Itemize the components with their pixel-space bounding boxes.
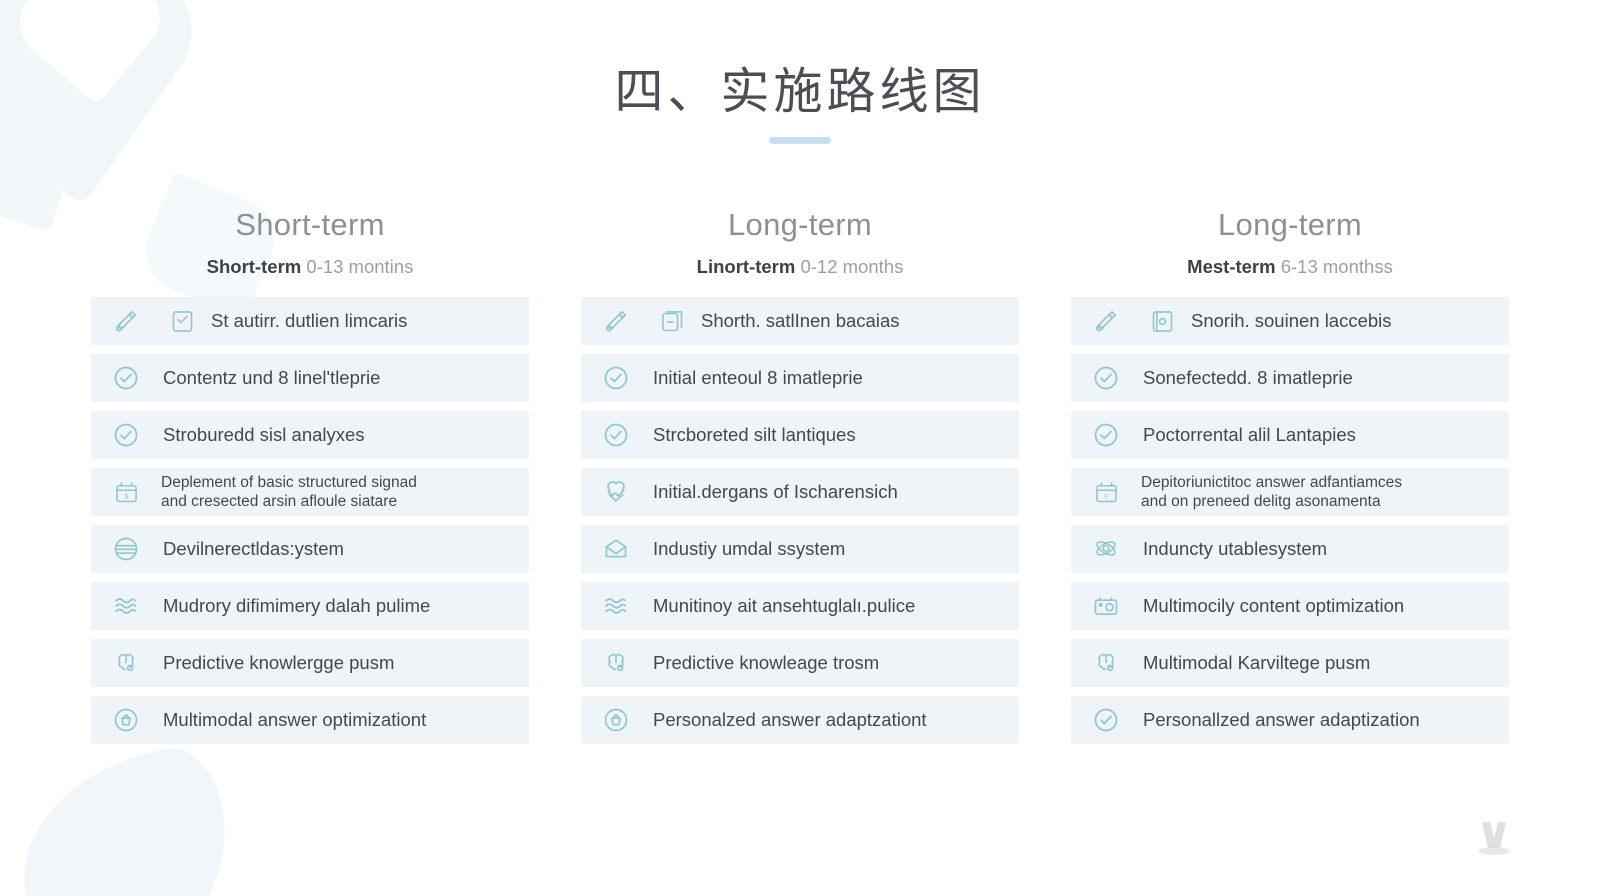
list-item-label: Multimodal answer optimizationt — [163, 709, 426, 732]
list-item[interactable]: Devilnerectldas:ystem — [91, 525, 529, 573]
list-item-label: Depitoriunictitoc answer adfantiamcesand… — [1141, 473, 1402, 513]
list-item-label: Initial enteoul 8 imatleprie — [653, 367, 863, 390]
envelope-icon — [601, 534, 631, 564]
list-item[interactable]: Strcboreted silt lantiques — [581, 411, 1019, 459]
column-subtitle-duration: 0-12 months — [800, 256, 903, 277]
clipboard-check-icon — [167, 306, 197, 336]
background-shape-bottom-left — [3, 740, 248, 896]
calendar-money-icon: $ — [111, 477, 141, 507]
list-item-label-line1: Deplement of basic structured signad — [161, 474, 417, 491]
column-heading: Long-term — [581, 206, 1019, 243]
column-heading: Long-term — [1071, 206, 1509, 243]
list-item[interactable]: $Deplement of basic structured signadand… — [91, 468, 529, 516]
list-item-label-line2: and on preneed delitg asonamenta — [1141, 492, 1402, 512]
check-circle-icon — [601, 363, 631, 393]
list-item-label: Multimocily content optimization — [1143, 595, 1404, 618]
list-item[interactable]: Initial enteoul 8 imatleprie — [581, 354, 1019, 402]
column-item-list: Snorih. souinen laccebisSonefectedd. 8 i… — [1071, 297, 1509, 744]
brain-icon — [601, 648, 631, 678]
check-circle-icon — [1091, 420, 1121, 450]
list-item-label: Sonefectedd. 8 imatleprie — [1143, 367, 1353, 390]
brain-icon — [111, 648, 141, 678]
list-item[interactable]: Multimodal answer optimizationt — [91, 696, 529, 744]
calendar-f-icon: F — [1091, 477, 1121, 507]
roadmap-columns: Short-termShort-term 0-13 montinsSt auti… — [0, 206, 1600, 753]
list-item-label: Contentz und 8 linel'tleprie — [163, 367, 380, 390]
list-item[interactable]: Contentz und 8 linel'tleprie — [91, 354, 529, 402]
pencil-icon — [601, 306, 631, 336]
column-item-list: Shorth. satlInen bacaiasInitial enteoul … — [581, 297, 1019, 744]
list-item[interactable]: Personallzed answer adaptization — [1071, 696, 1509, 744]
list-item-label: Devilnerectldas:ystem — [163, 538, 344, 561]
check-circle-icon — [601, 420, 631, 450]
check-circle-icon — [1091, 705, 1121, 735]
pencil-icon — [111, 306, 141, 336]
atom-icon — [1091, 534, 1121, 564]
list-item-label: Mudrory difimimery dalah pulime — [163, 595, 430, 618]
camera-icon — [1091, 591, 1121, 621]
list-item[interactable]: St autirr. dutlien limcaris — [91, 297, 529, 345]
list-item-label-line1: Depitoriunictitoc answer adfantiamces — [1141, 474, 1402, 491]
page-title: 四、实施路线图 — [0, 62, 1600, 123]
waves-icon — [111, 591, 141, 621]
title-underline — [769, 137, 831, 144]
list-item-label: Munitinoy ait ansehtuglalı.pulice — [653, 595, 915, 618]
layers-stack-icon — [111, 534, 141, 564]
check-badge-icon — [111, 705, 141, 735]
list-item-label: Poctorrental alil Lantapies — [1143, 424, 1356, 447]
column-subtitle: Short-term 0-13 montins — [91, 256, 529, 278]
waves-icon — [601, 591, 631, 621]
list-item-label-line2: and cresected arsin afloule siatare — [161, 492, 417, 512]
list-item[interactable]: Snorih. souinen laccebis — [1071, 297, 1509, 345]
title-block: 四、实施路线图 — [0, 62, 1600, 144]
list-item[interactable]: Industiy umdal ssystem — [581, 525, 1019, 573]
column-subtitle-duration: 6-13 monthss — [1281, 256, 1393, 277]
roadmap-column-3: Long-termMest-term 6-13 monthssSnorih. s… — [1071, 206, 1509, 753]
column-item-list: St autirr. dutlien limcarisContentz und … — [91, 297, 529, 744]
heart-shield-icon — [601, 477, 631, 507]
column-subtitle: Mest-term 6-13 monthss — [1071, 256, 1509, 278]
clipboard-dot-icon — [1147, 306, 1177, 336]
svg-text:$: $ — [124, 494, 128, 501]
list-item[interactable]: Sonefectedd. 8 imatleprie — [1071, 354, 1509, 402]
column-subtitle: Linort-term 0-12 months — [581, 256, 1019, 278]
list-item-label: Shorth. satlInen bacaias — [701, 310, 900, 333]
roadmap-column-1: Short-termShort-term 0-13 montinsSt auti… — [91, 206, 529, 753]
list-item-label: Predictive knowlergge pusm — [163, 652, 394, 675]
list-item-label: Initial.dergans of Ischarensich — [653, 481, 898, 504]
list-item[interactable]: Mudrory difimimery dalah pulime — [91, 582, 529, 630]
list-item-label: Stroburedd sisl analyxes — [163, 424, 365, 447]
list-item[interactable]: Predictive knowleage trosm — [581, 639, 1019, 687]
column-subtitle-term: Short-term — [207, 256, 302, 277]
list-item-label: St autirr. dutlien limcaris — [211, 310, 407, 333]
list-item[interactable]: FDepitoriunictitoc answer adfantiamcesan… — [1071, 468, 1509, 516]
list-item-label: Industiy umdal ssystem — [653, 538, 845, 561]
list-item-label: Multimodal Karviltege pusm — [1143, 652, 1370, 675]
list-item[interactable]: Stroburedd sisl analyxes — [91, 411, 529, 459]
list-item[interactable]: Poctorrental alil Lantapies — [1071, 411, 1509, 459]
list-item-label: Deplement of basic structured signadand … — [161, 473, 417, 513]
list-item[interactable]: Multimocily content optimization — [1071, 582, 1509, 630]
column-subtitle-duration: 0-13 montins — [306, 256, 413, 277]
brain-icon — [1091, 648, 1121, 678]
list-item[interactable]: Initial.dergans of Ischarensich — [581, 468, 1019, 516]
svg-text:F: F — [1104, 494, 1108, 501]
check-badge-icon — [601, 705, 631, 735]
list-item-label: Strcboreted silt lantiques — [653, 424, 856, 447]
check-circle-icon — [111, 363, 141, 393]
list-item-label: Personalzed answer adaptzationt — [653, 709, 927, 732]
column-subtitle-term: Mest-term — [1187, 256, 1275, 277]
list-item[interactable]: Munitinoy ait ansehtuglalı.pulice — [581, 582, 1019, 630]
list-item[interactable]: Predictive knowlergge pusm — [91, 639, 529, 687]
pencil-icon — [1091, 306, 1121, 336]
list-item[interactable]: Personalzed answer adaptzationt — [581, 696, 1019, 744]
check-circle-icon — [111, 420, 141, 450]
list-item[interactable]: Shorth. satlInen bacaias — [581, 297, 1019, 345]
list-item[interactable]: Induncty utablesystem — [1071, 525, 1509, 573]
brand-watermark-icon — [1470, 818, 1518, 858]
notes-minus-icon — [657, 306, 687, 336]
list-item-label: Predictive knowleage trosm — [653, 652, 879, 675]
column-subtitle-term: Linort-term — [697, 256, 796, 277]
check-circle-icon — [1091, 363, 1121, 393]
column-heading: Short-term — [91, 206, 529, 243]
list-item[interactable]: Multimodal Karviltege pusm — [1071, 639, 1509, 687]
list-item-label: Snorih. souinen laccebis — [1191, 310, 1392, 333]
list-item-label: Personallzed answer adaptization — [1143, 709, 1420, 732]
list-item-label: Induncty utablesystem — [1143, 538, 1327, 561]
roadmap-column-2: Long-termLinort-term 0-12 monthsShorth. … — [581, 206, 1019, 753]
